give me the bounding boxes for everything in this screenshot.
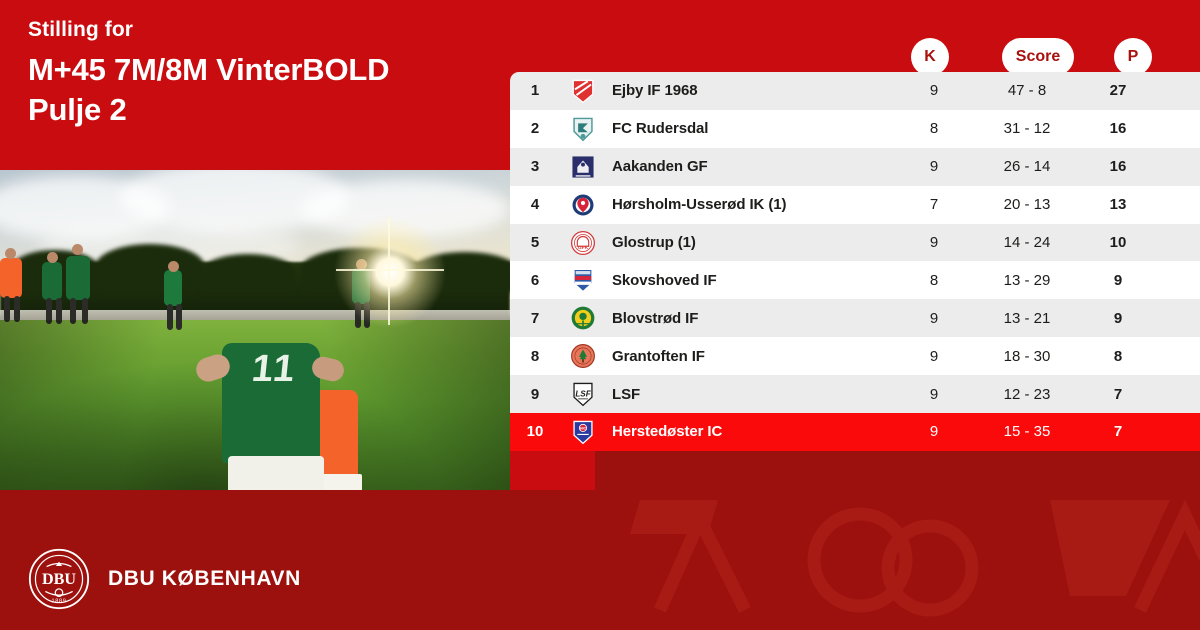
table-row[interactable]: 1Ejby IF 1968947 - 827 — [510, 72, 1200, 110]
row-points: 27 — [1080, 82, 1156, 99]
column-header-p: P — [1114, 38, 1152, 76]
row-position: 6 — [510, 272, 560, 289]
row-team-name: Skovshoved IF — [606, 272, 894, 289]
header-kicker: Stilling for — [28, 18, 498, 41]
watermark-pattern-right — [595, 490, 1200, 630]
row-position: 2 — [510, 120, 560, 137]
table-footer-band — [595, 451, 1200, 630]
svg-text:GFK: GFK — [578, 245, 589, 251]
row-team-name: Aakanden GF — [606, 158, 894, 175]
row-matches-played: 8 — [894, 272, 974, 289]
row-matches-played: 8 — [894, 120, 974, 137]
row-goal-score: 13 - 29 — [974, 272, 1080, 289]
table-row[interactable]: 2FC Rudersdal831 - 1216 — [510, 110, 1200, 148]
row-goal-score: 18 - 30 — [974, 348, 1080, 365]
row-points: 9 — [1080, 310, 1156, 327]
row-points: 13 — [1080, 196, 1156, 213]
blovstrod-if-badge — [560, 305, 606, 331]
grantoften-if-badge — [560, 343, 606, 369]
svg-text:LSF: LSF — [575, 390, 591, 399]
row-position: 1 — [510, 82, 560, 99]
table-row[interactable]: 5GFKGlostrup (1)914 - 2410 — [510, 224, 1200, 262]
row-points: 16 — [1080, 158, 1156, 175]
svg-text:1889: 1889 — [52, 599, 67, 605]
row-matches-played: 9 — [894, 310, 974, 327]
row-goal-score: 47 - 8 — [974, 82, 1080, 99]
row-position: 10 — [510, 423, 560, 440]
standings-table: 1Ejby IF 1968947 - 8272FC Rudersdal831 -… — [510, 72, 1200, 451]
table-row[interactable]: 10HICHerstedøster IC915 - 357 — [510, 413, 1200, 451]
page-title-line1: M+45 7M/8M VinterBOLD — [28, 52, 389, 87]
row-matches-played: 9 — [894, 348, 974, 365]
skovshoved-if-badge — [560, 267, 606, 293]
footer: DBU 1889 DBU KØBENHAVN — [28, 548, 301, 610]
page-title-line2: Pulje 2 — [28, 92, 127, 127]
row-goal-score: 20 - 13 — [974, 196, 1080, 213]
row-goal-score: 26 - 14 — [974, 158, 1080, 175]
svg-text:HIC: HIC — [580, 427, 587, 431]
herstedoster-ic-badge: HIC — [560, 419, 606, 445]
lsf-badge: LSF — [560, 381, 606, 407]
table-row[interactable]: 7Blovstrød IF913 - 219 — [510, 299, 1200, 337]
row-goal-score: 12 - 23 — [974, 386, 1080, 403]
photo-tree — [95, 244, 205, 290]
page-title: M+45 7M/8M VinterBOLD Pulje 2 — [28, 50, 498, 129]
row-matches-played: 9 — [894, 234, 974, 251]
row-goal-score: 14 - 24 — [974, 234, 1080, 251]
row-goal-score: 13 - 21 — [974, 310, 1080, 327]
row-points: 7 — [1080, 386, 1156, 403]
column-header-k: K — [911, 38, 949, 76]
fc-rudersdal-badge — [560, 116, 606, 142]
row-points: 10 — [1080, 234, 1156, 251]
row-position: 3 — [510, 158, 560, 175]
row-matches-played: 9 — [894, 158, 974, 175]
row-team-name: Glostrup (1) — [606, 234, 894, 251]
svg-text:DBU: DBU — [42, 571, 76, 588]
table-row[interactable]: 9LSFLSF912 - 237 — [510, 375, 1200, 413]
row-position: 9 — [510, 386, 560, 403]
row-matches-played: 9 — [894, 423, 974, 440]
table-row[interactable]: 3Aakanden GF926 - 1416 — [510, 148, 1200, 186]
row-team-name: FC Rudersdal — [606, 120, 894, 137]
row-goal-score: 15 - 35 — [974, 423, 1080, 440]
row-points: 7 — [1080, 423, 1156, 440]
row-team-name: Herstedøster IC — [606, 423, 894, 440]
football-match-photo: 11 — [0, 170, 510, 490]
row-points: 16 — [1080, 120, 1156, 137]
table-row[interactable]: 6Skovshoved IF813 - 299 — [510, 261, 1200, 299]
row-team-name: LSF — [606, 386, 894, 403]
row-points: 8 — [1080, 348, 1156, 365]
row-team-name: Grantoften IF — [606, 348, 894, 365]
column-header-score: Score — [1002, 38, 1074, 76]
ejby-if-1968-badge — [560, 78, 606, 104]
row-matches-played: 7 — [894, 196, 974, 213]
row-position: 5 — [510, 234, 560, 251]
row-matches-played: 9 — [894, 82, 974, 99]
row-position: 8 — [510, 348, 560, 365]
horsholm-usserod-ik-badge — [560, 192, 606, 218]
row-goal-score: 31 - 12 — [974, 120, 1080, 137]
aakanden-gf-badge — [560, 154, 606, 180]
row-team-name: Blovstrød IF — [606, 310, 894, 327]
photo-tree — [200, 254, 296, 292]
row-position: 7 — [510, 310, 560, 327]
glostrup-badge: GFK — [560, 230, 606, 256]
row-team-name: Hørsholm-Usserød IK (1) — [606, 196, 894, 213]
table-row[interactable]: 8Grantoften IF918 - 308 — [510, 337, 1200, 375]
row-position: 4 — [510, 196, 560, 213]
photo-sun-flare — [330, 212, 450, 332]
poster-canvas: Stilling for M+45 7M/8M VinterBOLD Pulje… — [0, 0, 1200, 630]
table-row[interactable]: 4Hørsholm-Usserød IK (1)720 - 1313 — [510, 186, 1200, 224]
dbu-logo-icon: DBU 1889 — [28, 548, 90, 610]
photo-sun-ray — [388, 269, 390, 271]
row-matches-played: 9 — [894, 386, 974, 403]
row-points: 9 — [1080, 272, 1156, 289]
poster-header: Stilling for M+45 7M/8M VinterBOLD Pulje… — [28, 18, 498, 129]
footer-org-name: DBU KØBENHAVN — [108, 567, 301, 591]
row-team-name: Ejby IF 1968 — [606, 82, 894, 99]
